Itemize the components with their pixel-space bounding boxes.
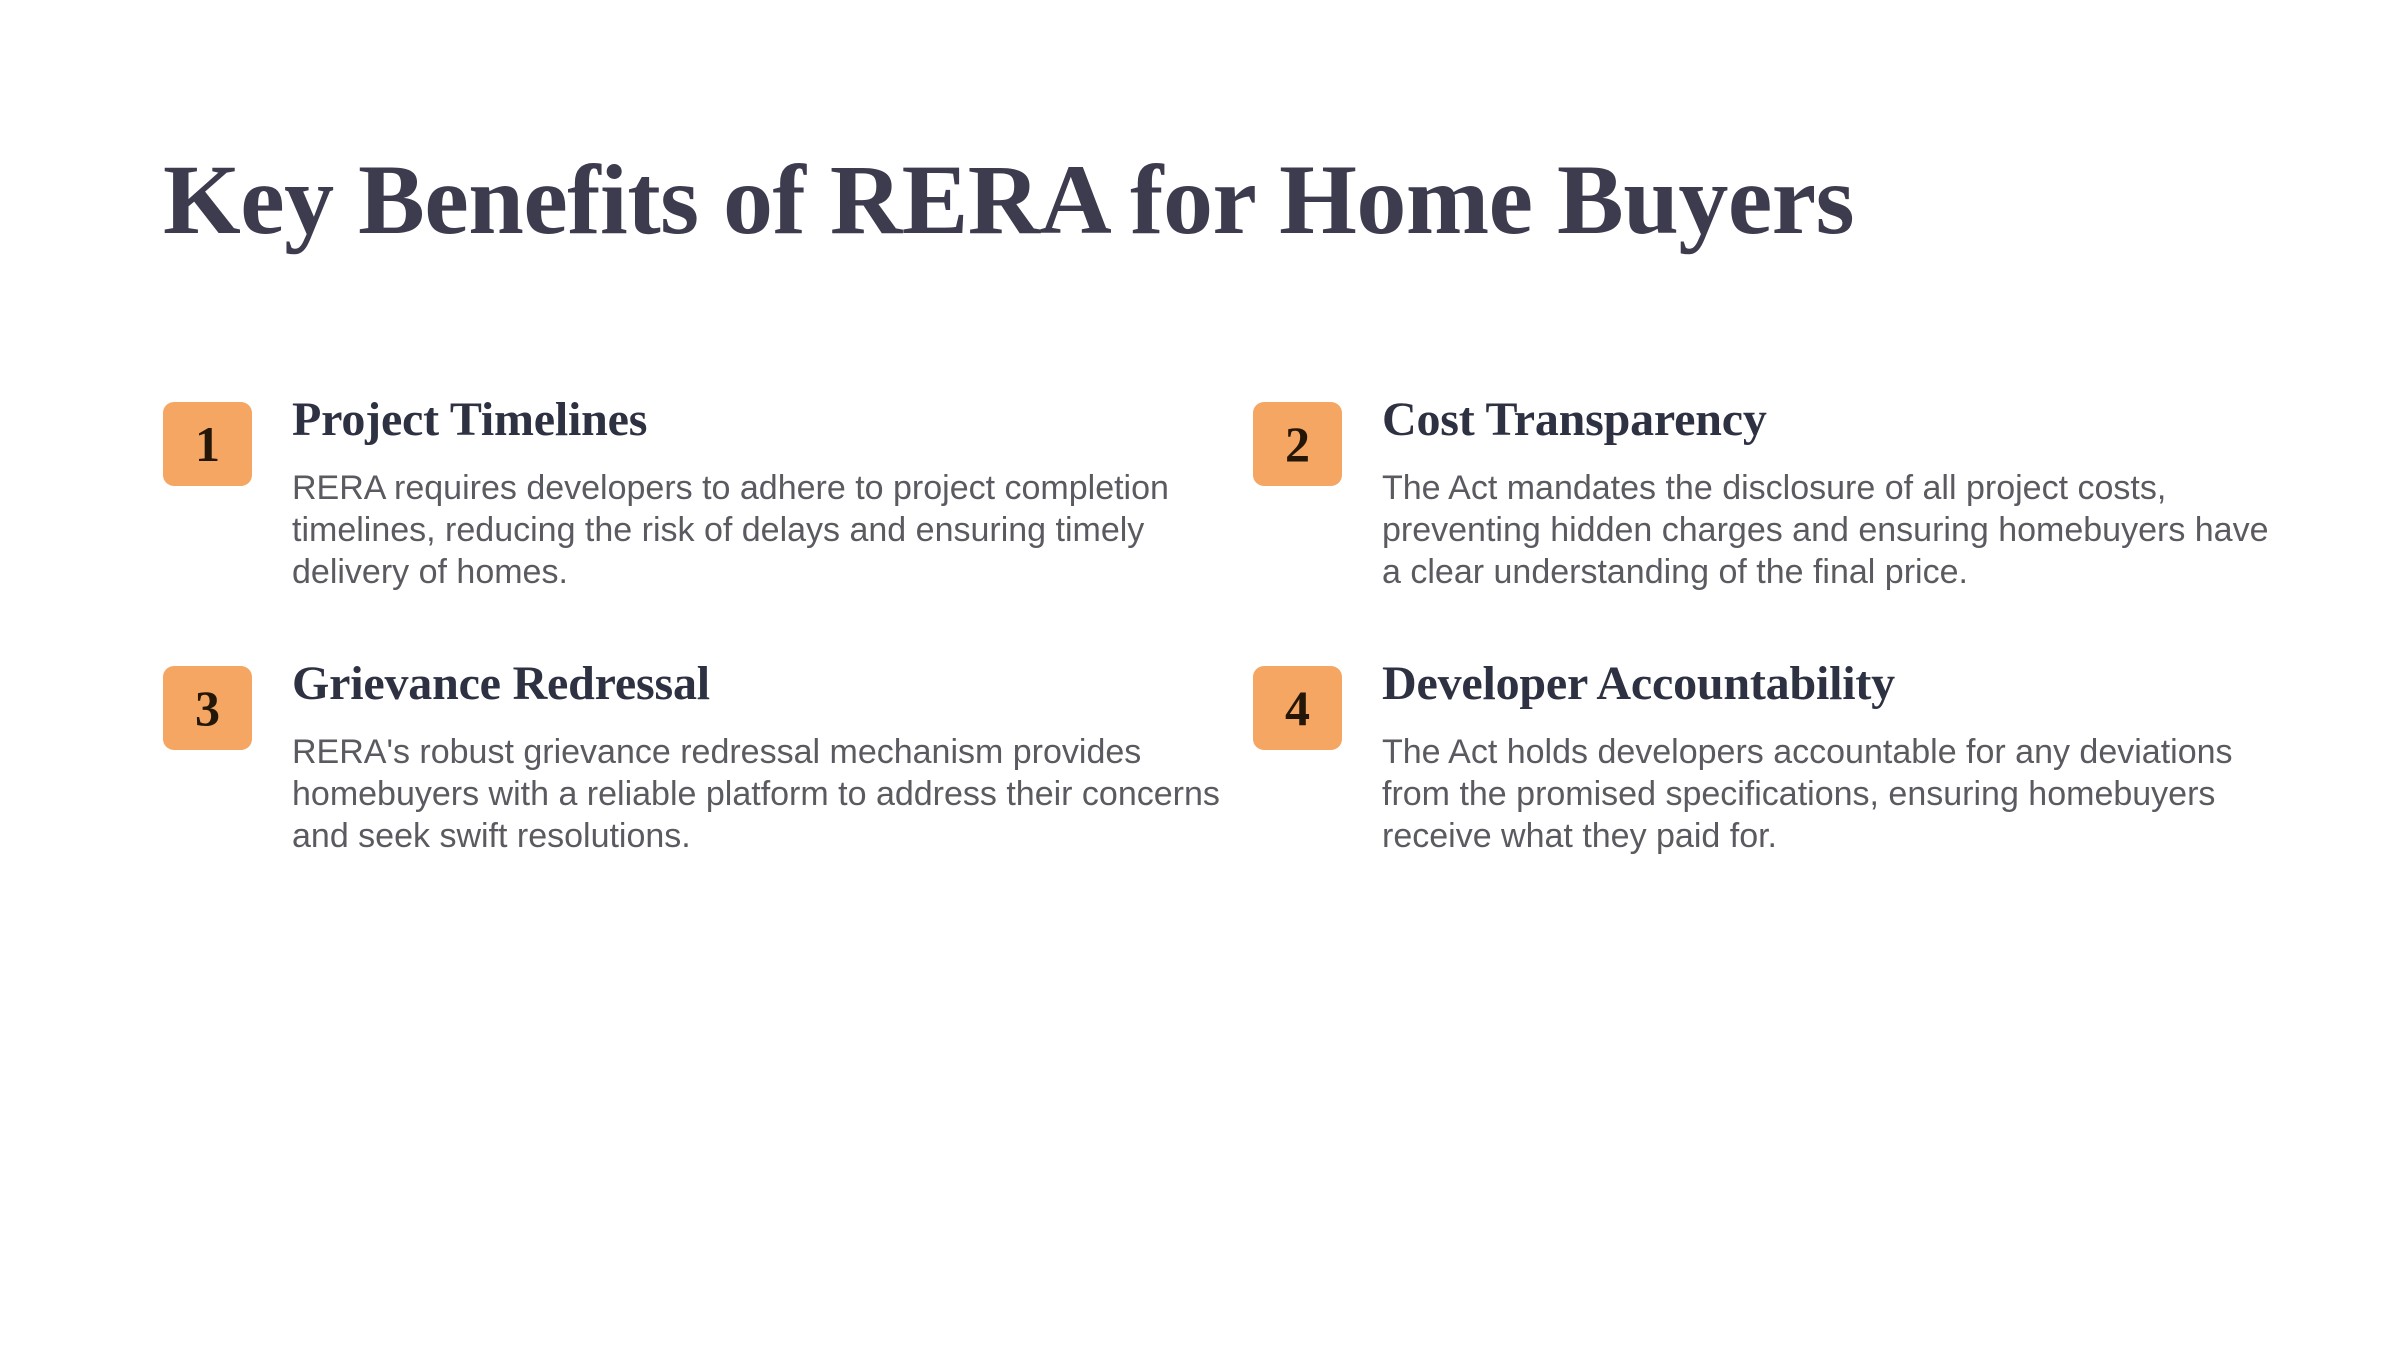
- benefit-text-4: The Act holds developers accountable for…: [1382, 732, 2282, 857]
- benefit-heading-4: Developer Accountability: [1382, 659, 2283, 710]
- benefit-number-badge-4: 4: [1253, 666, 1342, 750]
- benefit-card-2: 2 Cost Transparency The Act mandates the…: [1253, 395, 2283, 593]
- benefit-body-2: Cost Transparency The Act mandates the d…: [1382, 395, 2283, 593]
- benefit-number-badge-2: 2: [1253, 402, 1342, 486]
- benefit-heading-1: Project Timelines: [292, 395, 1252, 446]
- benefit-number-4: 4: [1285, 683, 1310, 733]
- benefits-card-grid: 1 Project Timelines RERA requires develo…: [163, 395, 2283, 858]
- benefit-body-1: Project Timelines RERA requires develope…: [292, 395, 1253, 593]
- benefit-body-4: Developer Accountability The Act holds d…: [1382, 659, 2283, 857]
- benefit-number-badge-1: 1: [163, 402, 252, 486]
- benefit-number-3: 3: [195, 683, 220, 733]
- benefit-number-badge-3: 3: [163, 666, 252, 750]
- benefit-text-2: The Act mandates the disclosure of all p…: [1382, 468, 2282, 593]
- benefit-text-3: RERA's robust grievance redressal mechan…: [292, 732, 1227, 857]
- benefit-heading-3: Grievance Redressal: [292, 659, 1252, 710]
- slide-root: Key Benefits of RERA for Home Buyers 1 P…: [0, 0, 2400, 1358]
- benefit-card-1: 1 Project Timelines RERA requires develo…: [163, 395, 1253, 593]
- benefit-number-1: 1: [195, 419, 220, 469]
- benefit-body-3: Grievance Redressal RERA's robust grieva…: [292, 659, 1253, 857]
- page-title: Key Benefits of RERA for Home Buyers: [163, 146, 2263, 254]
- benefit-heading-2: Cost Transparency: [1382, 395, 2283, 446]
- benefit-text-1: RERA requires developers to adhere to pr…: [292, 468, 1227, 593]
- benefit-number-2: 2: [1285, 419, 1310, 469]
- benefit-card-4: 4 Developer Accountability The Act holds…: [1253, 659, 2283, 857]
- benefit-card-3: 3 Grievance Redressal RERA's robust grie…: [163, 659, 1253, 857]
